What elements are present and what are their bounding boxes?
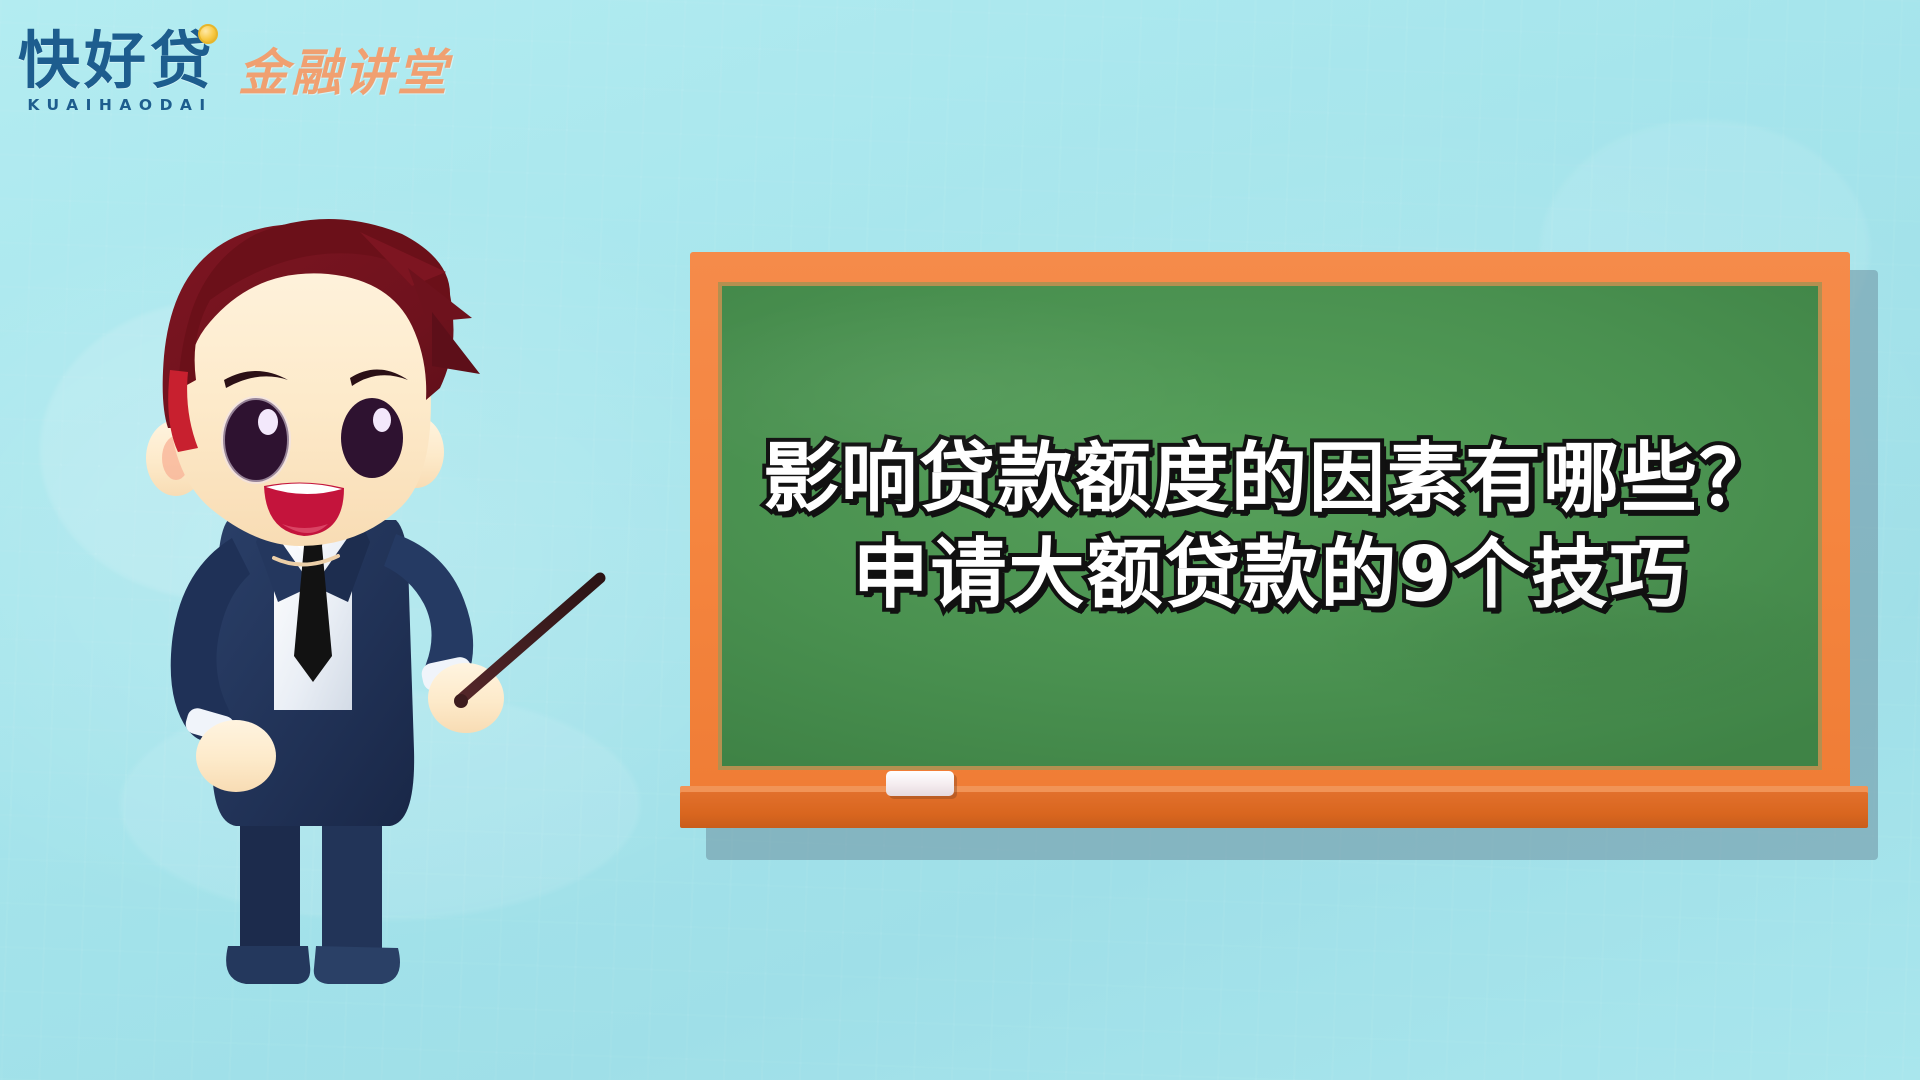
blackboard-line-1: 影响贷款额度的因素有哪些？	[740, 430, 1800, 526]
blackboard-text: 影响贷款额度的因素有哪些？ 申请大额贷款的9个技巧	[722, 430, 1818, 622]
video-thumbnail-canvas: 快好贷 KUAIHAODAI 金融讲堂 影响贷款额度的因素有哪些？ 申请大额贷款…	[0, 0, 1920, 1080]
blackboard-frame: 影响贷款额度的因素有哪些？ 申请大额贷款的9个技巧	[690, 252, 1850, 814]
mascot-legs	[240, 810, 382, 962]
gold-coin-icon	[198, 24, 218, 44]
mascot-character	[60, 190, 680, 1010]
brand-logo-chinese: 快好贷	[18, 24, 216, 97]
mascot-shoes	[226, 946, 400, 984]
brand-logo-main: 快好贷 KUAIHAODAI	[18, 30, 216, 114]
pointer-stick-icon	[454, 578, 600, 708]
blackboard-chalk-tray	[680, 792, 1868, 828]
eraser-icon	[886, 771, 954, 796]
brand-logo: 快好贷 KUAIHAODAI 金融讲堂	[18, 30, 450, 114]
blackboard-surface: 影响贷款额度的因素有哪些？ 申请大额贷款的9个技巧	[718, 282, 1822, 770]
blackboard: 影响贷款额度的因素有哪些？ 申请大额贷款的9个技巧	[690, 252, 1870, 852]
blackboard-line-2: 申请大额贷款的9个技巧	[740, 526, 1800, 622]
brand-logo-pinyin: KUAIHAODAI	[21, 96, 212, 114]
program-title: 金融讲堂	[238, 48, 450, 98]
mascot-head	[146, 219, 480, 565]
